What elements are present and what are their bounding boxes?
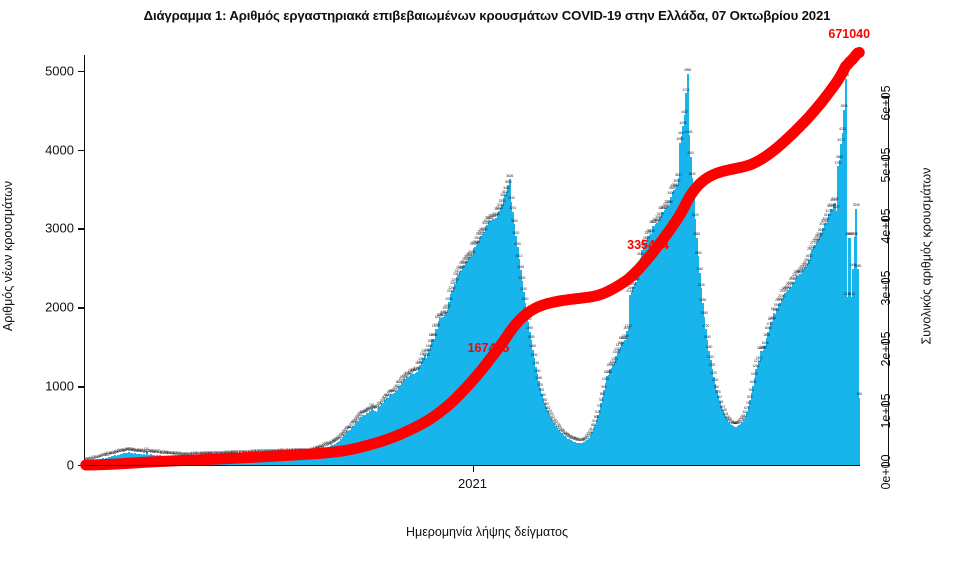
y-tick-label: 1000	[45, 379, 74, 394]
y-tick-mark	[78, 150, 85, 151]
y-tick-label: 2e+05	[879, 331, 893, 366]
page-title: Διάγραμμα 1: Αριθμός εργαστηριακά επιβεβ…	[0, 8, 974, 23]
y-axis-left: 010002000300040005000	[0, 47, 85, 465]
chart-canvas: Διάγραμμα 1: Αριθμός εργαστηριακά επιβεβ…	[0, 0, 974, 563]
y-tick-label: 6e+05	[879, 86, 893, 121]
x-tick-label: 2021	[458, 476, 487, 491]
y-tick-label: 2000	[45, 300, 74, 315]
y-axis-right-label: Συνολικός αριθμός κρουσμάτων	[915, 47, 937, 465]
y-tick-label: 3000	[45, 221, 74, 236]
y-tick-label: 5e+05	[879, 147, 893, 182]
x-axis: 2021	[85, 465, 860, 505]
y-tick-label: 0	[67, 458, 74, 473]
y-tick-label: 5000	[45, 63, 74, 78]
x-axis-label: Ημερομηνία λήψης δείγματος	[0, 525, 974, 539]
x-tick-mark	[473, 465, 474, 472]
y-tick-mark	[78, 71, 85, 72]
cumulative-line-path	[86, 53, 859, 465]
y-tick-mark	[78, 307, 85, 308]
y-tick-mark	[78, 228, 85, 229]
y-tick-label: 3e+05	[879, 270, 893, 305]
cumulative-annotation: 167465	[468, 341, 510, 355]
y-tick-mark	[78, 386, 85, 387]
plot-area: 3028354138524761587469837895881049711210…	[85, 47, 860, 465]
y-tick-label: 4e+05	[879, 209, 893, 244]
cumulative-annotation: 671040	[828, 27, 870, 41]
cumulative-annotation: 335474	[627, 238, 669, 252]
y-tick-label: 0e+00	[879, 454, 893, 489]
y-tick-label: 1e+05	[879, 393, 893, 428]
y-tick-label: 4000	[45, 142, 74, 157]
y-axis-right: 0e+001e+052e+053e+054e+055e+056e+05	[860, 47, 920, 465]
cumulative-line-series	[85, 47, 860, 465]
